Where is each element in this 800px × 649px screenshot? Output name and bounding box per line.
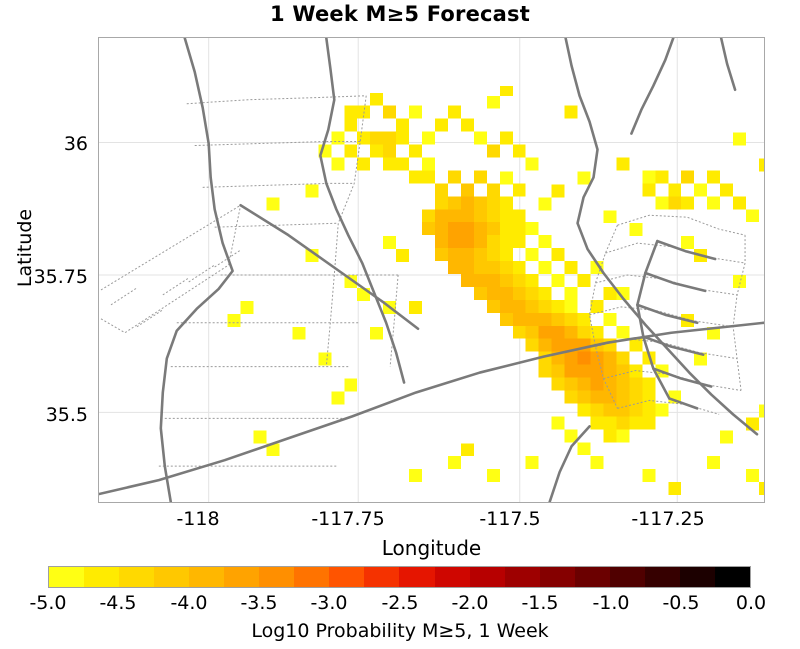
map-overlay <box>99 38 764 502</box>
page-title: 1 Week M≥5 Forecast <box>0 2 800 26</box>
xtick-label-11775: -117.75 <box>278 508 418 530</box>
map-plot-area[interactable] <box>98 37 765 503</box>
colorbar-segment-18 <box>680 567 715 587</box>
colorbar-segment-8 <box>329 567 364 587</box>
colorbar-segment-2 <box>119 567 154 587</box>
colorbar-segment-0 <box>49 567 84 587</box>
colorbar-segment-17 <box>645 567 680 587</box>
colorbar-segment-11 <box>435 567 470 587</box>
colorbar-segment-7 <box>294 567 329 587</box>
boundary-left <box>101 205 241 332</box>
xtick-label-118: -118 <box>128 508 268 530</box>
xtick-label-1175: -117.5 <box>440 508 580 530</box>
y-axis-label: Latitude <box>14 178 36 318</box>
fault-traces <box>99 38 764 502</box>
colorbar-segment-12 <box>470 567 505 587</box>
ytick-label-355: 35.5 <box>0 404 88 426</box>
xtick-label-11725: -117.25 <box>598 508 738 530</box>
x-axis-label: Longitude <box>98 536 765 560</box>
colorbar-segment-13 <box>505 567 540 587</box>
colorbar-segment-3 <box>154 567 189 587</box>
colorbar-segment-16 <box>610 567 645 587</box>
colorbar-segment-9 <box>364 567 399 587</box>
colorbar-segment-5 <box>224 567 259 587</box>
colorbar-segment-14 <box>540 567 575 587</box>
forecast-figure: 1 Week M≥5 Forecast 36 35.75 35.5 Latitu… <box>0 0 800 649</box>
colorbar-segment-10 <box>399 567 434 587</box>
colorbar-segment-19 <box>715 567 750 587</box>
ytick-label-36: 36 <box>0 133 88 155</box>
boundary-center-left <box>159 96 398 466</box>
colorbar-label: Log10 Probability M≥5, 1 Week <box>0 620 800 642</box>
cbtick-label-0-0: 0.0 <box>691 592 800 614</box>
colorbar[interactable] <box>48 566 751 588</box>
colorbar-segment-4 <box>189 567 224 587</box>
colorbar-container <box>48 566 751 588</box>
colorbar-segment-6 <box>259 567 294 587</box>
colorbar-segment-15 <box>575 567 610 587</box>
colorbar-segment-1 <box>84 567 119 587</box>
